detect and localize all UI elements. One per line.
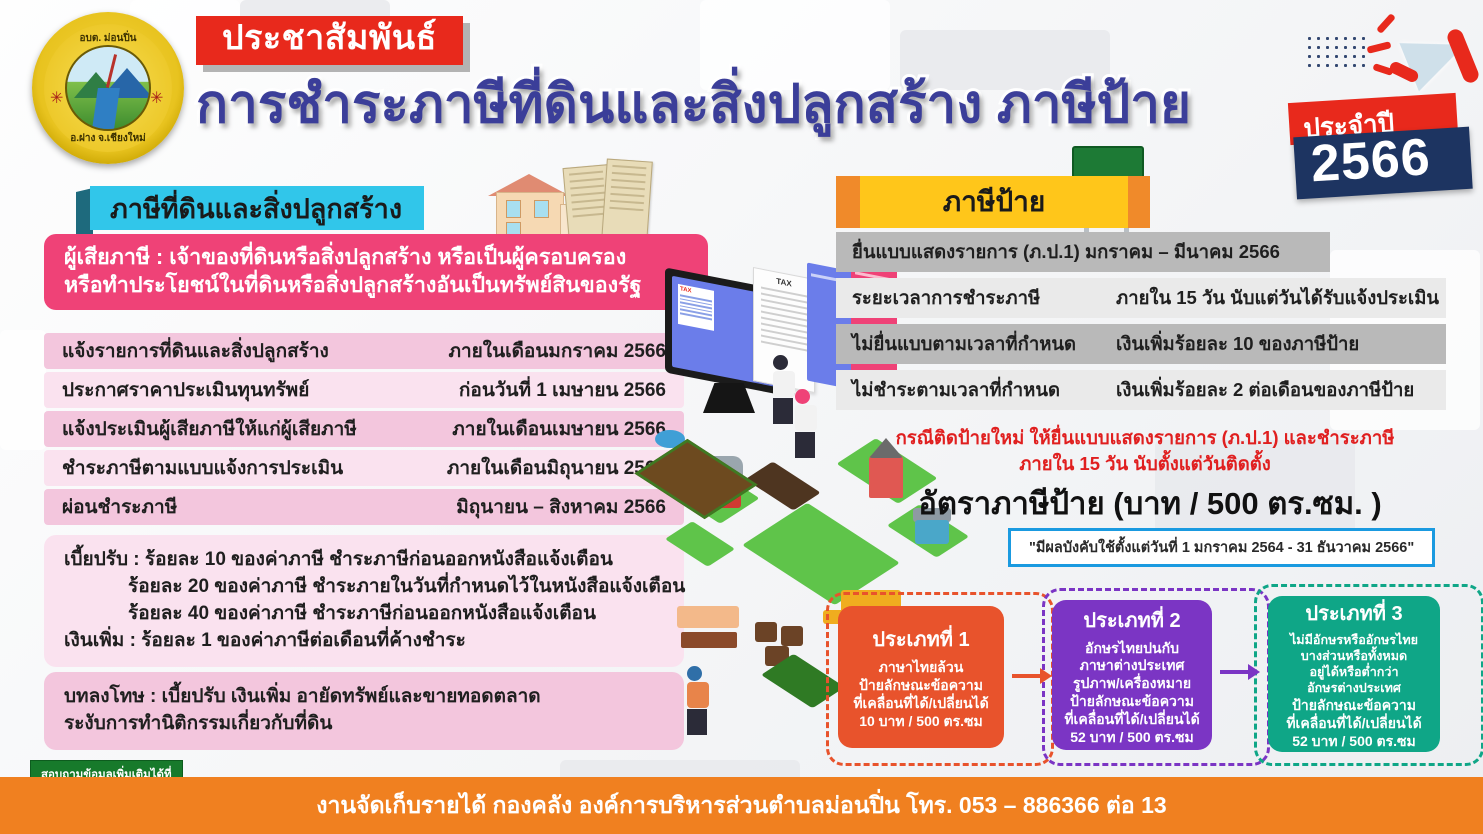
row-value: เงินเพิ่มร้อยละ 2 ต่อเดือนของภาษีป้าย — [1116, 376, 1414, 405]
new-sign-note-line-2: ภายใน 15 วัน นับตั้งแต่วันติดตั้ง — [830, 450, 1460, 479]
row-label: ไม่ชำระตามเวลาที่กำหนด — [852, 376, 1060, 405]
category-card-2: ประเภทที่ 2 อักษรไทยปนกับ ภาษาต่างประเทศ… — [1052, 600, 1212, 750]
category-3-line-2: บางส่วนหรือทั้งหมด — [1301, 649, 1407, 665]
category-3-line-7: 52 บาท / 500 ตร.ซม — [1292, 733, 1416, 751]
taxpayer-line-1: ผู้เสียภาษี : เจ้าของที่ดินหรือสิ่งปลูกส… — [64, 244, 688, 272]
public-relations-badge: ประชาสัมพันธ์ — [196, 16, 463, 65]
category-1-line-4: 10 บาท / 500 ตร.ซม — [859, 713, 983, 731]
row-value: เงินเพิ่มร้อยละ 10 ของภาษีป้าย — [1116, 330, 1359, 359]
row-label: ประกาศราคาประเมินทุนทรัพย์ — [62, 375, 309, 405]
category-2-line-5: ที่เคลื่อนที่ได้/เปลี่ยนได้ — [1064, 711, 1199, 729]
year-badge: ประจำปี 2566 — [1289, 98, 1475, 196]
rate-title-text: อัตราภาษีป้าย (บาท / 500 ตร.ซม. ) — [918, 486, 1381, 521]
megaphone-icon — [1367, 14, 1471, 94]
category-3-title: ประเภทที่ 3 — [1305, 597, 1402, 629]
infographic-canvas: อบต. ม่อนปิ่น อ.ฝาง จ.เชียงใหม่ ✳ ✳ ประช… — [0, 0, 1483, 834]
row-label: ยื่นแบบแสดงรายการ (ภ.ป.1) มกราคม – มีนาค… — [852, 238, 1280, 267]
category-1-line-2: ป้ายลักษณะข้อความ — [859, 677, 983, 695]
row-label: แจ้งประเมินผู้เสียภาษีให้แก่ผู้เสียภาษี — [62, 414, 357, 444]
connector-line-1 — [1012, 674, 1042, 678]
penalty-line-3: ร้อยละ 40 ของค่าภาษี ชำระภาษีก่อนออกหนัง… — [64, 601, 664, 628]
person-figure — [687, 666, 709, 735]
row-label: ผ่อนชำระภาษี — [62, 492, 177, 522]
category-3-line-1: ไม่มีอักษรหรืออักษรไทย — [1290, 633, 1418, 649]
category-2-line-6: 52 บาท / 500 ตร.ซม — [1070, 729, 1194, 747]
paper-tax-label: TAX — [754, 272, 814, 293]
effective-period-text: "มีผลบังคับใช้ตั้งแต่วันที่ 1 มกราคม 256… — [1029, 540, 1414, 556]
sanction-line-1: บทลงโทษ : เบี้ยปรับ เงินเพิ่ม อายัดทรัพย… — [64, 684, 664, 711]
table-row: ยื่นแบบแสดงรายการ (ภ.ป.1) มกราคม – มีนาค… — [836, 232, 1330, 272]
table-row: ระยะเวลาการชำระภาษี ภายใน 15 วัน นับแต่ว… — [836, 278, 1446, 318]
penalty-note-box: เบี้ยปรับ : ร้อยละ 10 ของค่าภาษี ชำระภาษ… — [44, 535, 684, 667]
mud-tile — [745, 462, 820, 511]
table-row: แจ้งประเมินผู้เสียภาษีให้แก่ผู้เสียภาษี … — [44, 411, 684, 447]
category-2-title: ประเภทที่ 2 — [1083, 604, 1180, 636]
category-card-1: ประเภทที่ 1 ภาษาไทยล้วน ป้ายลักษณะข้อควา… — [838, 606, 1004, 748]
category-1-title: ประเภทที่ 1 — [872, 623, 969, 655]
arrow-icon-2 — [1248, 664, 1260, 680]
footer-contact-text: งานจัดเก็บรายได้ กองคลัง องค์การบริหารส่… — [316, 788, 1166, 824]
table-row: แจ้งรายการที่ดินและสิ่งปลูกสร้าง ภายในเด… — [44, 333, 684, 369]
row-label: ระยะเวลาการชำระภาษี — [852, 284, 1040, 313]
connector-line-2 — [1220, 670, 1250, 674]
table-row: ผ่อนชำระภาษี มิถุนายน – สิงหาคม 2566 — [44, 489, 684, 525]
row-value: มิถุนายน – สิงหาคม 2566 — [456, 492, 666, 522]
seal-landscape-icon — [65, 45, 151, 131]
page-title: การชำระภาษีที่ดินและสิ่งปลูกสร้าง ภาษีป้… — [196, 78, 1191, 131]
grass-tile — [665, 521, 735, 567]
organization-seal-logo: อบต. ม่อนปิ่น อ.ฝาง จ.เชียงใหม่ ✳ ✳ — [32, 12, 184, 164]
penalty-line-1: เบี้ยปรับ : ร้อยละ 10 ของค่าภาษี ชำระภาษ… — [64, 547, 664, 574]
sanction-line-2: ระงับการทำนิติกรรมเกี่ยวกับที่ดิน — [64, 711, 664, 738]
row-value: ภายในเดือนมิถุนายน 2566 — [447, 453, 666, 483]
star-icon: ✳ — [150, 91, 166, 107]
footer-bar: งานจัดเก็บรายได้ กองคลัง องค์การบริหารส่… — [0, 777, 1483, 834]
row-value: ก่อนวันที่ 1 เมษายน 2566 — [459, 375, 666, 405]
section-header-accent — [1128, 176, 1150, 228]
table-row: ประกาศราคาประเมินทุนทรัพย์ ก่อนวันที่ 1 … — [44, 372, 684, 408]
taxpayer-line-2: หรือทำประโยชน์ในที่ดินหรือสิ่งปลูกสร้างอ… — [64, 272, 688, 300]
row-value: ภายในเดือนเมษายน 2566 — [452, 414, 666, 444]
halftone-dots-decoration — [1305, 34, 1371, 72]
sanction-note-box: บทลงโทษ : เบี้ยปรับ เงินเพิ่ม อายัดทรัพย… — [44, 672, 684, 750]
table-row: ชำระภาษีตามแบบแจ้งการประเมิน ภายในเดือนม… — [44, 450, 684, 486]
category-1-line-3: ที่เคลื่อนที่ได้/เปลี่ยนได้ — [853, 695, 988, 713]
section-header-accent — [836, 176, 862, 228]
person-figure — [773, 355, 795, 424]
arrow-icon-1 — [1040, 668, 1052, 684]
logo-top-text: อบต. ม่อนปิ่น — [44, 31, 172, 46]
category-2-line-2: ภาษาต่างประเทศ — [1080, 657, 1185, 675]
market-stall-table — [681, 632, 737, 648]
table-row: ไม่ชำระตามเวลาที่กำหนด เงินเพิ่มร้อยละ 2… — [836, 370, 1446, 410]
year-value: 2566 — [1309, 127, 1432, 194]
produce-basket — [755, 622, 777, 642]
bg-block — [0, 330, 46, 450]
effective-period-note: "มีผลบังคับใช้ตั้งแต่วันที่ 1 มกราคม 256… — [1008, 528, 1435, 567]
sign-tax-section-title: ภาษีป้าย — [943, 180, 1046, 224]
category-3-line-4: อักษรต่างประเทศ — [1307, 681, 1401, 697]
penalty-line-2: ร้อยละ 20 ของค่าภาษี ชำระภายในวันที่กำหน… — [64, 574, 664, 601]
row-label: ไม่ยื่นแบบตามเวลาที่กำหนด — [852, 330, 1076, 359]
logo-bottom-text: อ.ฝาง จ.เชียงใหม่ — [44, 131, 172, 146]
category-card-3: ประเภทที่ 3 ไม่มีอักษรหรืออักษรไทย บางส่… — [1268, 596, 1440, 752]
category-3-line-5: ป้ายลักษณะข้อความ — [1292, 697, 1416, 715]
category-1-line-1: ภาษาไทยล้วน — [879, 659, 964, 677]
land-tax-section-title: ภาษีที่ดินและสิ่งปลูกสร้าง — [110, 187, 402, 230]
row-value: ภายใน 15 วัน นับแต่วันได้รับแจ้งประเมิน — [1116, 284, 1439, 313]
row-value: ภายในเดือนมกราคม 2566 — [448, 336, 666, 366]
category-3-line-6: ที่เคลื่อนที่ได้/เปลี่ยนได้ — [1286, 715, 1421, 733]
penalty-line-4: เงินเพิ่ม : ร้อยละ 1 ของค่าภาษีต่อเดือนท… — [64, 628, 664, 655]
star-icon: ✳ — [50, 91, 66, 107]
sign-tax-section-header: ภาษีป้าย — [860, 176, 1128, 228]
taxpayer-definition-box: ผู้เสียภาษี : เจ้าของที่ดินหรือสิ่งปลูกส… — [44, 234, 708, 310]
category-2-line-4: ป้ายลักษณะข้อความ — [1070, 693, 1194, 711]
new-sign-note-line-1: กรณีติดป้ายใหม่ ให้ยื่นแบบแสดงรายการ (ภ.… — [830, 424, 1460, 453]
land-tax-section-header: ภาษีที่ดินและสิ่งปลูกสร้าง — [90, 186, 424, 230]
category-2-line-3: รูปภาพ/เครื่องหมาย — [1073, 675, 1191, 693]
category-2-line-1: อักษรไทยปนกับ — [1085, 640, 1179, 658]
market-stall-awning — [677, 606, 739, 628]
row-label: แจ้งรายการที่ดินและสิ่งปลูกสร้าง — [62, 336, 329, 366]
row-label: ชำระภาษีตามแบบแจ้งการประเมิน — [62, 453, 343, 483]
produce-basket — [781, 626, 803, 646]
rate-title: อัตราภาษีป้าย (บาท / 500 ตร.ซม. ) — [830, 478, 1470, 528]
category-3-line-3: อยู่ได้หรือต่ำกว่า — [1309, 665, 1398, 681]
table-row: ไม่ยื่นแบบตามเวลาที่กำหนด เงินเพิ่มร้อยล… — [836, 324, 1446, 364]
